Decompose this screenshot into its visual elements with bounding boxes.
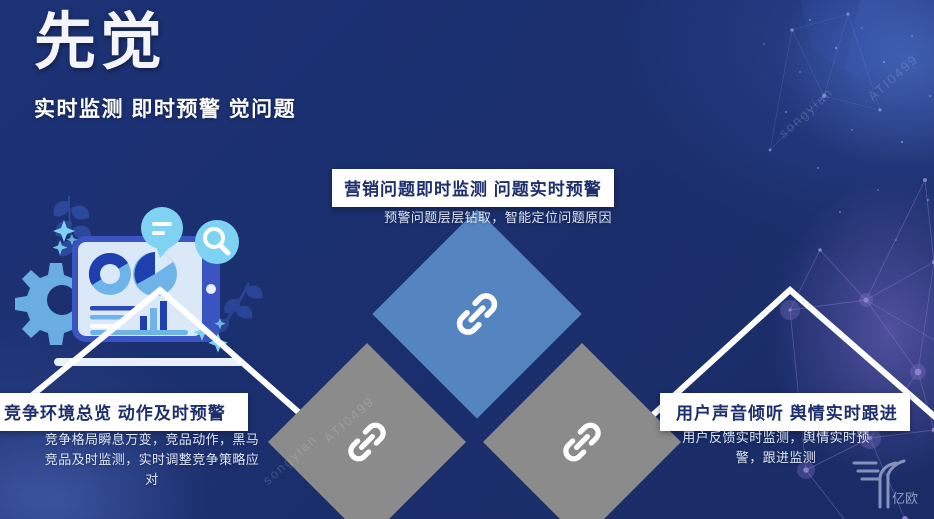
header: 先觉 实时监测 即时预警 觉问题	[34, 8, 296, 123]
tablet-home-dot	[206, 284, 216, 294]
watermark-text: ATI0499	[865, 51, 921, 104]
progress-bar	[90, 330, 188, 335]
shelf-line	[54, 358, 244, 366]
link-icon	[449, 286, 505, 342]
link-icon	[341, 416, 393, 468]
donut-chart	[89, 253, 131, 295]
node-left-description: 竞争格局瞬息万变，竞品动作，黑马竞品及时监测，实时调整竞争策略应对	[42, 430, 262, 490]
analytics-dashboard-illustration	[10, 178, 280, 378]
node-top-description: 预警问题层层钻取，智能定位问题原因	[318, 208, 678, 228]
node-left-label: 竞争环境总览 动作及时预警	[0, 393, 248, 431]
link-icon	[556, 416, 608, 468]
node-right-label: 用户声音倾听 舆情实时跟进	[660, 393, 910, 431]
eo-logo: 亿欧	[846, 451, 926, 513]
slide-canvas: 先觉 实时监测 即时预警 觉问题	[0, 0, 934, 519]
node-top-label: 营销问题即时监测 问题实时预警	[332, 169, 614, 207]
page-subtitle: 实时监测 即时预警 觉问题	[34, 93, 296, 123]
pie-chart	[133, 252, 177, 296]
watermark-text: songyian	[776, 84, 837, 141]
search-icon	[195, 220, 239, 264]
logo-text: 亿欧	[892, 491, 918, 506]
page-title: 先觉	[34, 8, 296, 79]
